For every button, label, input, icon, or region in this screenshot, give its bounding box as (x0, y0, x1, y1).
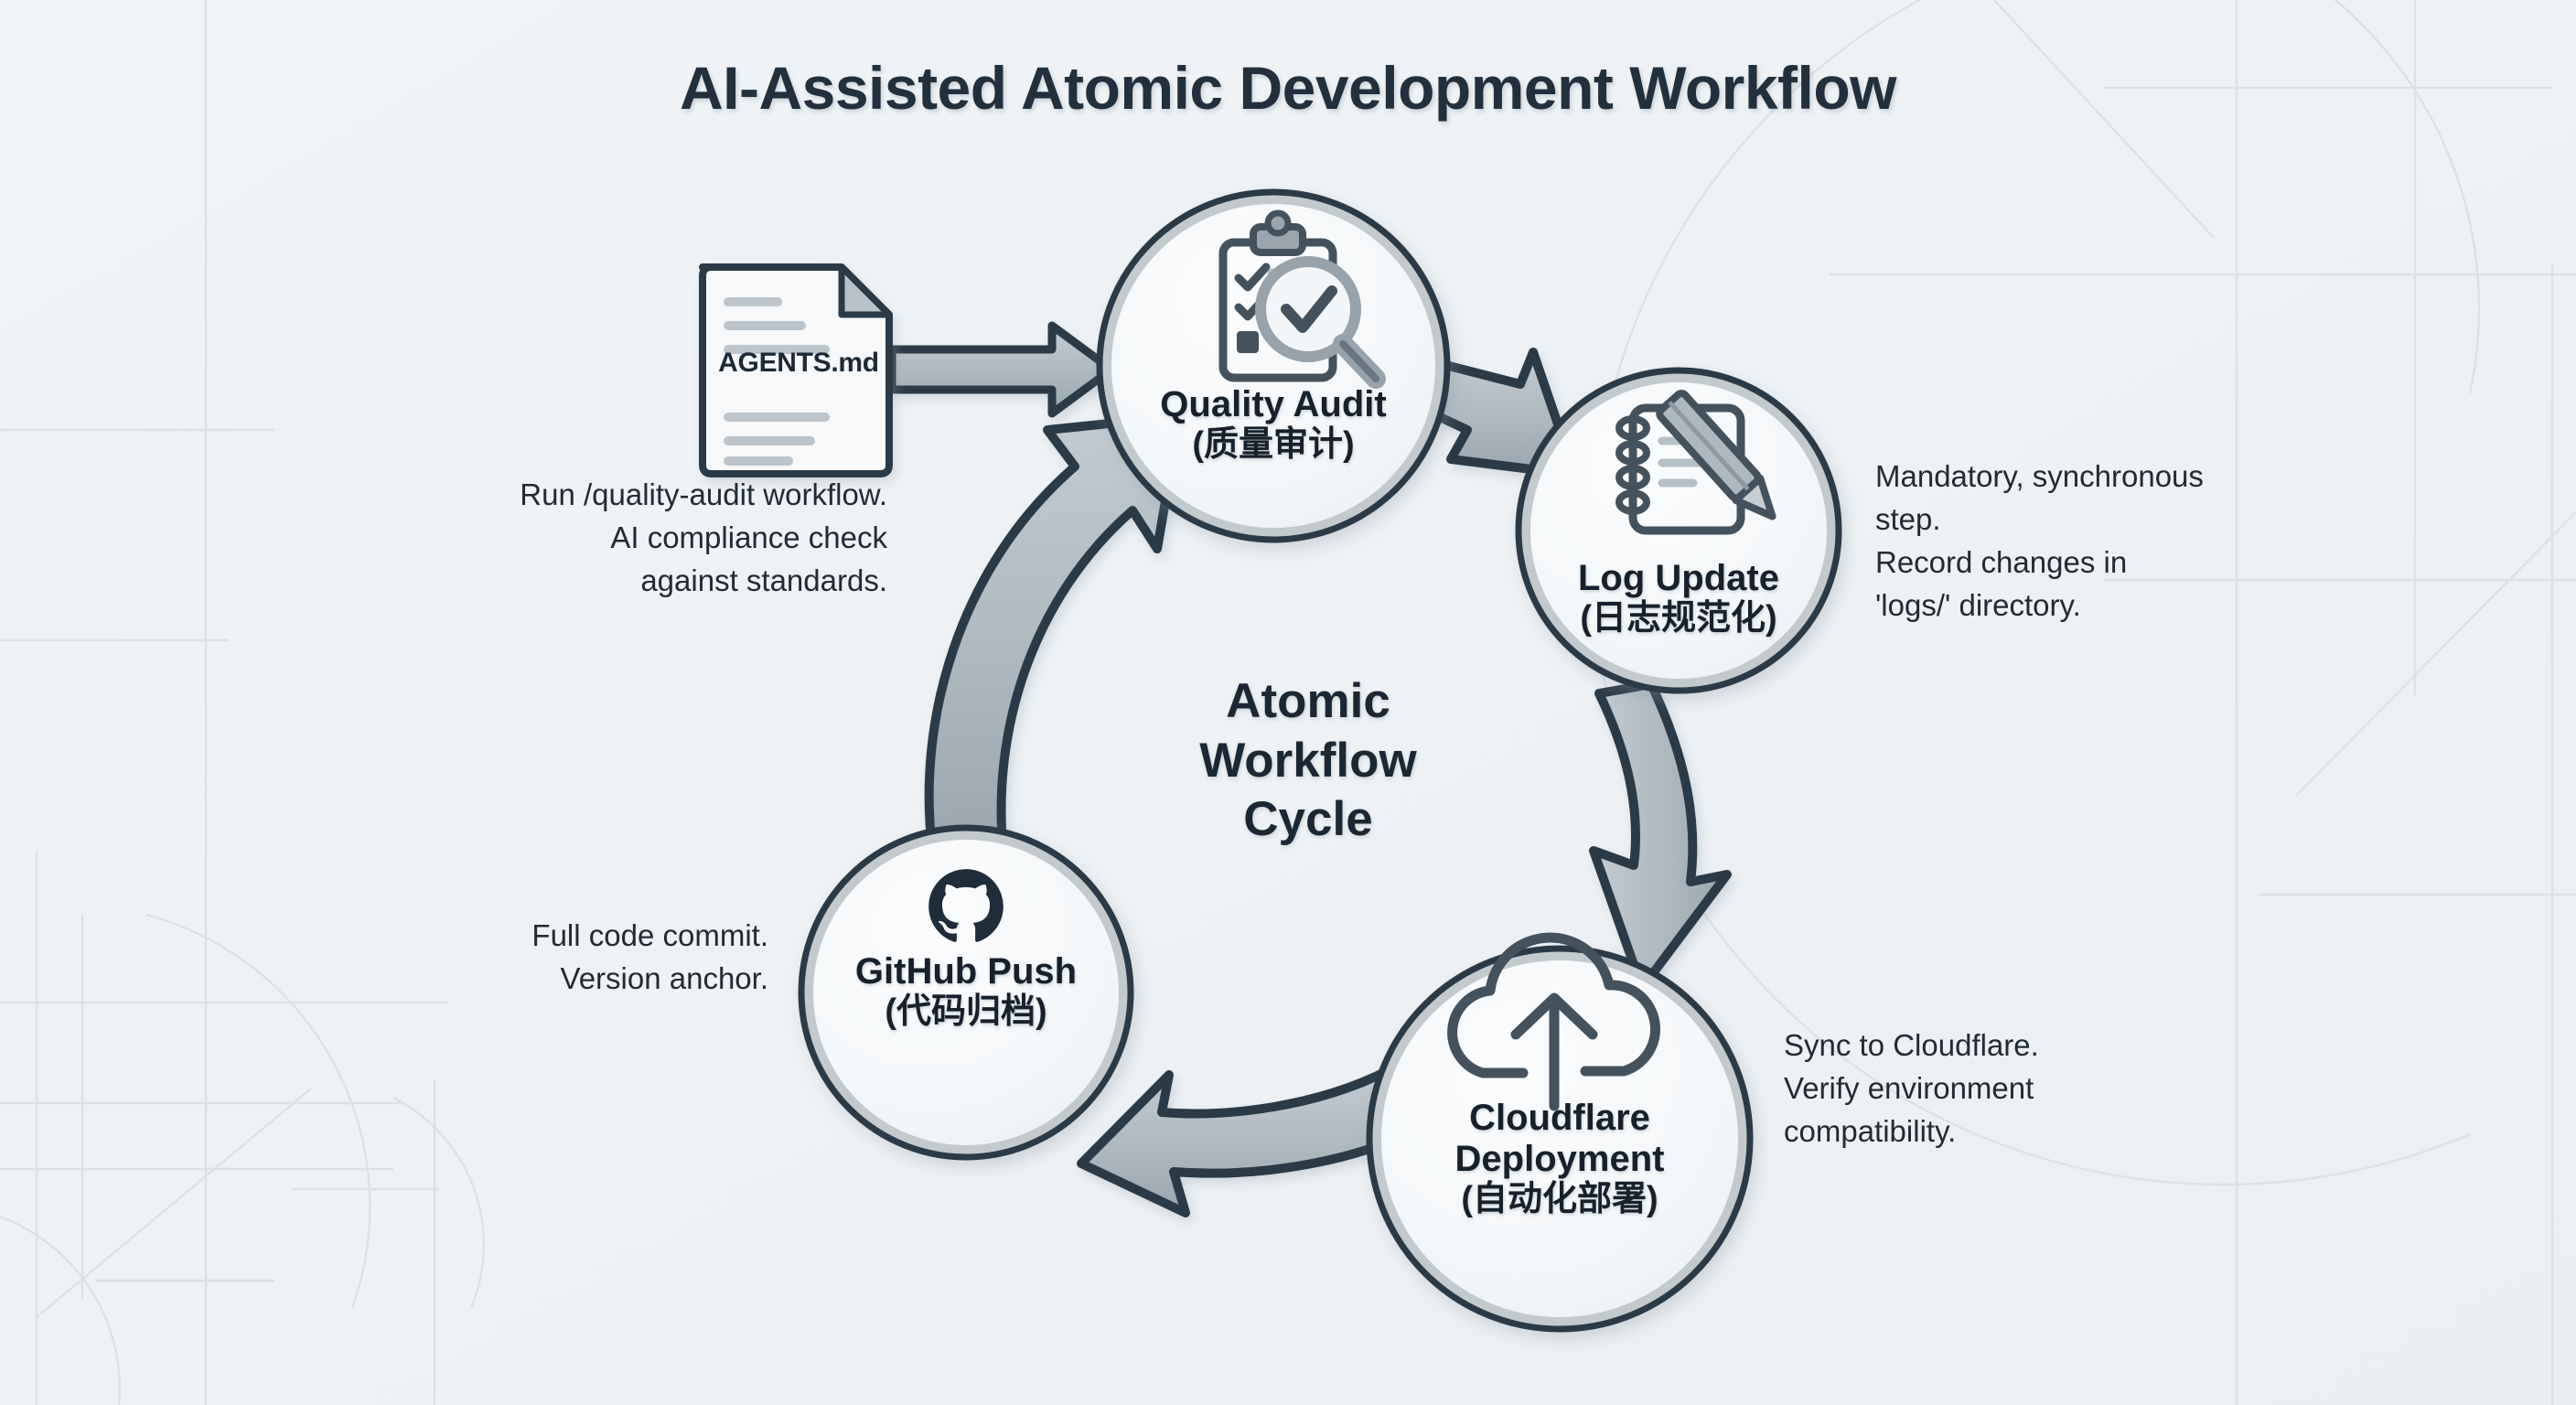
node-log-update[interactable] (1519, 370, 1839, 691)
caption-quality-audit-line1: Run /quality-audit workflow. (412, 474, 887, 517)
center-cycle-label: Atomic Workflow Cycle (1121, 672, 1496, 850)
caption-log-update-line4: 'logs/' directory. (1875, 585, 2314, 627)
caption-quality-audit-line2: AI compliance check (412, 517, 887, 560)
caption-cloudflare-line3: compatibility. (1784, 1110, 2214, 1153)
arrow-cloudflare-to-github (1081, 1070, 1411, 1213)
caption-quality-audit-line3: against standards. (412, 560, 887, 603)
caption-log-update: Mandatory, synchronous step. Record chan… (1875, 456, 2314, 627)
caption-log-update-line1: Mandatory, synchronous (1875, 456, 2314, 499)
center-label-line2: Workflow (1121, 732, 1496, 791)
caption-quality-audit: Run /quality-audit workflow. AI complian… (412, 474, 887, 603)
node-github-push[interactable] (801, 828, 1131, 1157)
caption-log-update-line3: Record changes in (1875, 542, 2314, 585)
caption-github-push-line1: Full code commit. (439, 915, 768, 958)
caption-cloudflare-line1: Sync to Cloudflare. (1784, 1024, 2214, 1067)
diagram-canvas: AI-Assisted Atomic Development Workflow … (0, 0, 2576, 1405)
caption-cloudflare-deployment: Sync to Cloudflare. Verify environment c… (1784, 1024, 2214, 1153)
caption-github-push: Full code commit. Version anchor. (439, 915, 768, 1001)
caption-log-update-line2: step. (1875, 499, 2314, 542)
page-title: AI-Assisted Atomic Development Workflow (0, 53, 2576, 123)
node-quality-audit[interactable] (1100, 192, 1447, 540)
center-label-line1: Atomic (1121, 672, 1496, 732)
caption-cloudflare-line2: Verify environment (1784, 1067, 2214, 1110)
agents-md-filename: AGENTS.md (712, 348, 885, 379)
center-label-line3: Cycle (1121, 790, 1496, 850)
node-cloudflare-deployment[interactable] (1369, 938, 1750, 1329)
caption-github-push-line2: Version anchor. (439, 958, 768, 1001)
arrow-log-update-to-cloudflare (1594, 684, 1727, 988)
arrow-doc-to-quality-audit (892, 326, 1111, 413)
